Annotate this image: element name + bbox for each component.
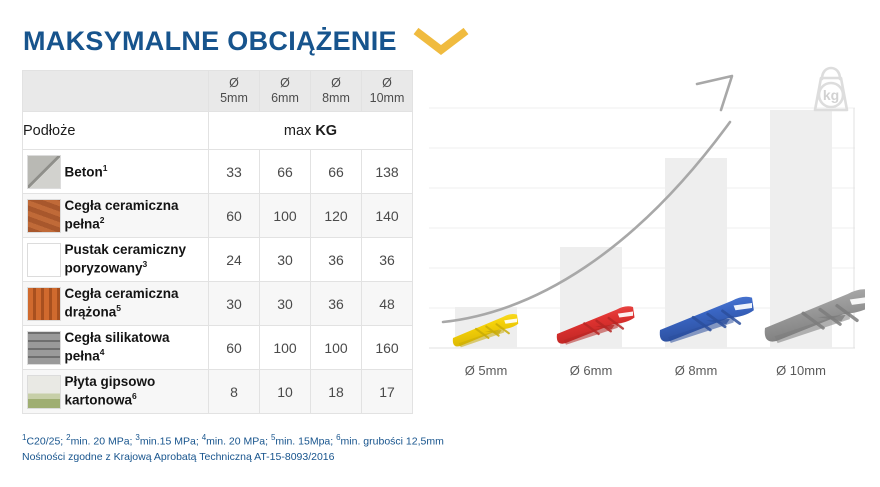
load-value-8mm: 100 bbox=[311, 326, 362, 370]
load-value-5mm: 8 bbox=[209, 370, 260, 414]
load-value-8mm: 36 bbox=[311, 238, 362, 282]
x-label-8mm: Ø 8mm bbox=[675, 363, 718, 378]
material-name-label: Beton bbox=[65, 164, 103, 179]
material-footnote-marker: 3 bbox=[143, 259, 148, 269]
table-row: Beton1336666138 bbox=[23, 150, 413, 194]
load-value-10mm: 140 bbox=[362, 194, 413, 238]
header-diameter-8mm: Ø 8mm bbox=[311, 71, 362, 112]
kg-weight-icon: kg bbox=[815, 68, 847, 110]
header-blank-cell bbox=[23, 71, 209, 112]
page-header: MAKSYMALNE OBCIĄŻENIE bbox=[23, 22, 469, 61]
footnotes: 1C20/25; 2min. 20 MPa; 3min.15 MPa; 4min… bbox=[22, 432, 542, 466]
diameter-symbol: Ø bbox=[209, 76, 259, 91]
material-thumbnail-cell bbox=[23, 282, 65, 326]
load-chart: kg Ø 5mmØ 6mmØ 8mmØ 10mm bbox=[425, 62, 865, 417]
diameter-symbol: Ø bbox=[362, 76, 412, 91]
chart-x-axis-labels: Ø 5mmØ 6mmØ 8mmØ 10mm bbox=[465, 363, 826, 378]
solid-clay-brick-icon bbox=[27, 199, 61, 233]
load-value-10mm: 17 bbox=[362, 370, 413, 414]
material-name-label: Cegła ceramiczna pełna bbox=[65, 198, 179, 231]
kg-weight-label: kg bbox=[823, 87, 839, 103]
chart-bars bbox=[455, 110, 832, 348]
substrate-label: Podłoże bbox=[23, 112, 209, 150]
material-footnote-marker: 4 bbox=[100, 347, 105, 357]
header-diameter-6mm-label: 6mm bbox=[271, 91, 299, 105]
table-row: Cegła ceramiczna drążona530303648 bbox=[23, 282, 413, 326]
material-name: Beton1 bbox=[65, 150, 209, 194]
footnote-text: min. 20 MPa; bbox=[206, 436, 271, 448]
chevron-down-icon bbox=[413, 26, 469, 61]
load-value-6mm: 100 bbox=[260, 194, 311, 238]
material-thumbnail-cell bbox=[23, 194, 65, 238]
load-value-8mm: 36 bbox=[311, 282, 362, 326]
diameter-symbol: Ø bbox=[311, 76, 361, 91]
material-name-label: Cegła ceramiczna drążona bbox=[65, 286, 179, 319]
unit-prefix: max bbox=[284, 123, 315, 139]
header-diameter-8mm-label: 8mm bbox=[322, 91, 350, 105]
material-name: Pustak ceramiczny poryzowany3 bbox=[65, 238, 209, 282]
unit-kg: KG bbox=[315, 123, 337, 139]
material-name: Płyta gipsowo kartonowa6 bbox=[65, 370, 209, 414]
material-thumbnail-cell bbox=[23, 238, 65, 282]
load-value-6mm: 30 bbox=[260, 238, 311, 282]
footnote-line-2: Nośności zgodne z Krajową Aprobatą Techn… bbox=[22, 450, 542, 466]
footnote-text: min. grubości 12,5mm bbox=[341, 436, 444, 448]
load-value-10mm: 138 bbox=[362, 150, 413, 194]
table-row: Pustak ceramiczny poryzowany324303636 bbox=[23, 238, 413, 282]
table-subheader-row: Podłoże max KG bbox=[23, 112, 413, 150]
material-thumbnail-cell bbox=[23, 370, 65, 414]
material-footnote-marker: 6 bbox=[132, 391, 137, 401]
load-value-5mm: 60 bbox=[209, 326, 260, 370]
load-value-6mm: 66 bbox=[260, 150, 311, 194]
table-header-row: Ø 5mm Ø 6mm Ø 8mm Ø 10mm bbox=[23, 71, 413, 112]
material-thumbnail-cell bbox=[23, 150, 65, 194]
load-value-6mm: 10 bbox=[260, 370, 311, 414]
unit-label: max KG bbox=[209, 112, 413, 150]
material-footnote-marker: 1 bbox=[103, 163, 108, 173]
x-label-6mm: Ø 6mm bbox=[570, 363, 613, 378]
load-value-5mm: 33 bbox=[209, 150, 260, 194]
silicate-brick-icon bbox=[27, 331, 61, 365]
load-value-5mm: 24 bbox=[209, 238, 260, 282]
footnote-line-1: 1C20/25; 2min. 20 MPa; 3min.15 MPa; 4min… bbox=[22, 432, 542, 450]
table-row: Cegła silikatowa pełna460100100160 bbox=[23, 326, 413, 370]
material-name: Cegła silikatowa pełna4 bbox=[65, 326, 209, 370]
material-name-label: Płyta gipsowo kartonowa bbox=[65, 374, 156, 407]
footnote-text: min.15 MPa; bbox=[140, 436, 202, 448]
header-diameter-6mm: Ø 6mm bbox=[260, 71, 311, 112]
footnote-text: min. 20 MPa; bbox=[71, 436, 136, 448]
header-diameter-5mm: Ø 5mm bbox=[209, 71, 260, 112]
header-diameter-10mm: Ø 10mm bbox=[362, 71, 413, 112]
load-value-8mm: 18 bbox=[311, 370, 362, 414]
load-value-10mm: 160 bbox=[362, 326, 413, 370]
header-diameter-5mm-label: 5mm bbox=[220, 91, 248, 105]
material-name-label: Cegła silikatowa pełna bbox=[65, 330, 170, 363]
load-value-10mm: 48 bbox=[362, 282, 413, 326]
hollow-clay-brick-icon bbox=[27, 287, 61, 321]
table-row: Płyta gipsowo kartonowa68101817 bbox=[23, 370, 413, 414]
max-load-table: Ø 5mm Ø 6mm Ø 8mm Ø 10mm Podłoże max KG … bbox=[22, 70, 413, 414]
material-footnote-marker: 5 bbox=[116, 303, 121, 313]
table-row: Cegła ceramiczna pełna260100120140 bbox=[23, 194, 413, 238]
load-value-8mm: 120 bbox=[311, 194, 362, 238]
material-name: Cegła ceramiczna drążona5 bbox=[65, 282, 209, 326]
plasterboard-icon bbox=[27, 375, 61, 409]
load-value-5mm: 30 bbox=[209, 282, 260, 326]
footnote-text: C20/25; bbox=[26, 436, 66, 448]
header-diameter-10mm-label: 10mm bbox=[370, 91, 405, 105]
load-value-6mm: 30 bbox=[260, 282, 311, 326]
page-title: MAKSYMALNE OBCIĄŻENIE bbox=[23, 28, 397, 55]
load-value-5mm: 60 bbox=[209, 194, 260, 238]
porous-ceramic-block-icon bbox=[27, 243, 61, 277]
load-value-6mm: 100 bbox=[260, 326, 311, 370]
material-name: Cegła ceramiczna pełna2 bbox=[65, 194, 209, 238]
material-thumbnail-cell bbox=[23, 326, 65, 370]
material-footnote-marker: 2 bbox=[100, 215, 105, 225]
concrete-block-icon bbox=[27, 155, 61, 189]
diameter-symbol: Ø bbox=[260, 76, 310, 91]
load-value-10mm: 36 bbox=[362, 238, 413, 282]
material-name-label: Pustak ceramiczny poryzowany bbox=[65, 242, 187, 275]
footnote-text: min. 15Mpa; bbox=[275, 436, 336, 448]
load-value-8mm: 66 bbox=[311, 150, 362, 194]
x-label-5mm: Ø 5mm bbox=[465, 363, 508, 378]
x-label-10mm: Ø 10mm bbox=[776, 363, 826, 378]
